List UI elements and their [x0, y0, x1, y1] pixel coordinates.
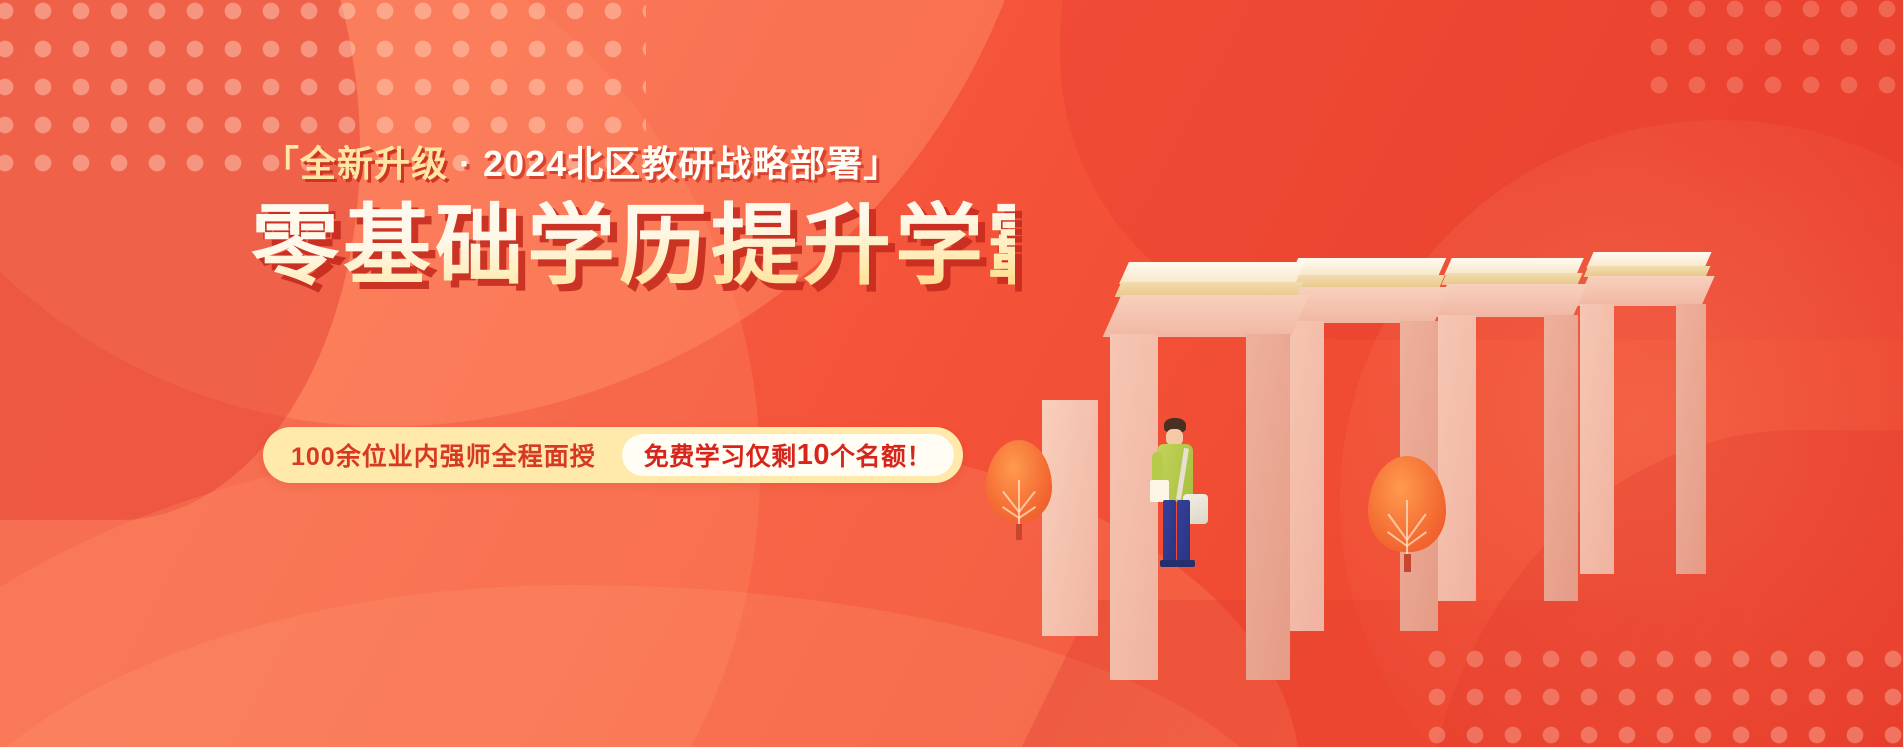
page-title: 零基础学历提升学霸班: [251, 200, 1015, 292]
banner-text-block: 「全新升级 · 2024北区教研战略部署」 零基础学历提升学霸班: [255, 146, 1015, 292]
slots-prefix-label: 免费学习仅剩: [644, 437, 797, 473]
subtitle-open-bracket: 「: [263, 143, 300, 184]
dot-grid-top-right-icon: [1640, 0, 1903, 110]
offer-badge-teachers-label: 100余位业内强师全程面授: [291, 437, 622, 473]
subtitle-white-text: 2024北区教研战略部署: [483, 143, 863, 184]
background-shape-salmon-circle: [0, 0, 760, 747]
subtitle-close-bracket: 」: [863, 143, 900, 184]
offer-badge[interactable]: 100余位业内强师全程面授 免费学习仅剩10个名额！: [263, 427, 963, 483]
slots-suffix-label: 个名额！: [830, 437, 932, 473]
illustration: [1150, 200, 1903, 747]
subtitle-gold-text: 全新升级: [300, 143, 448, 184]
banner-subtitle: 「全新升级 · 2024北区教研战略部署」: [255, 146, 1015, 182]
promo-banner: 「全新升级 · 2024北区教研战略部署」 零基础学历提升学霸班 100余位业内…: [0, 0, 1903, 747]
slots-count: 10: [797, 439, 830, 472]
offer-badge-slots-pill[interactable]: 免费学习仅剩10个名额！: [622, 434, 954, 476]
subtitle-separator: ·: [448, 143, 483, 184]
